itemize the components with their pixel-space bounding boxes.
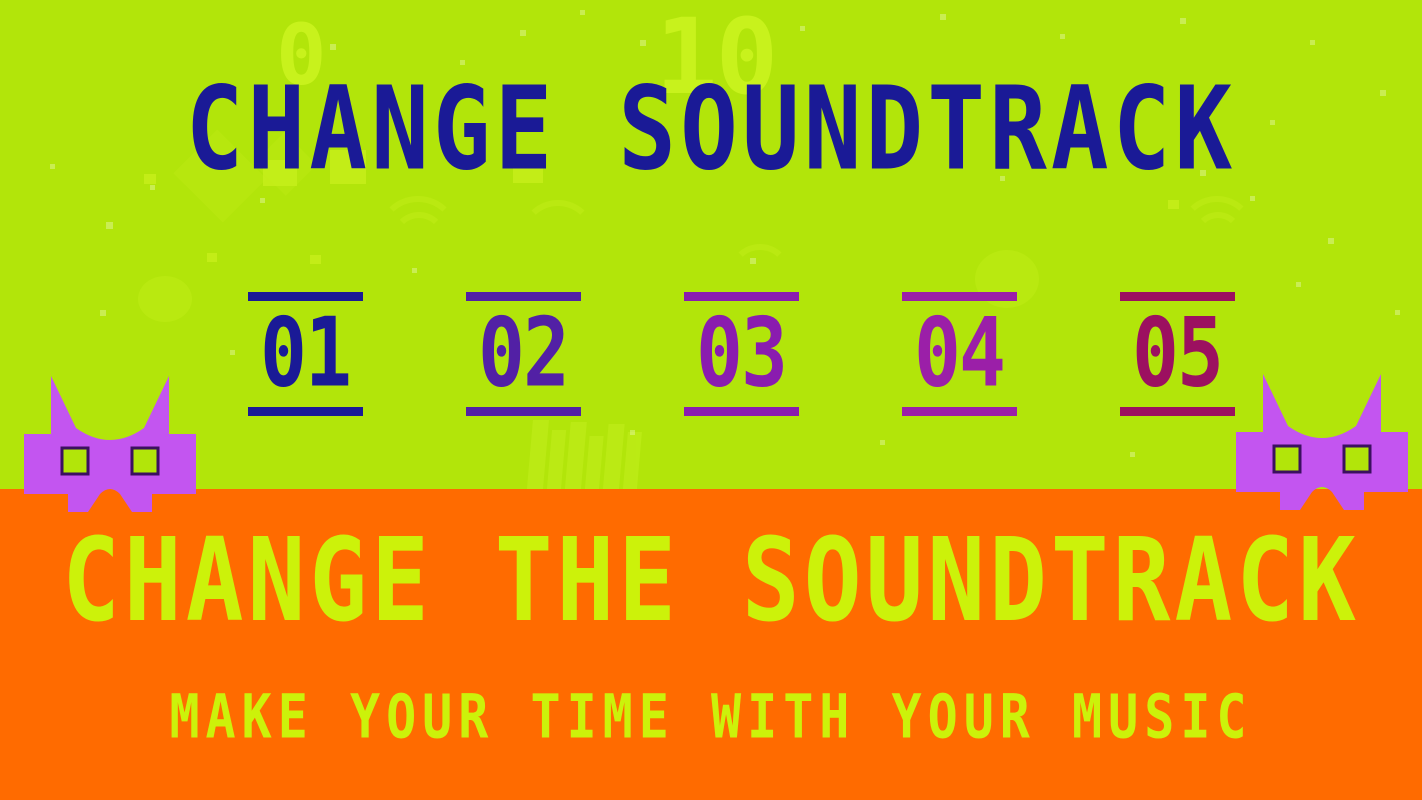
decor-square bbox=[207, 253, 217, 262]
decor-dot bbox=[412, 268, 417, 273]
decor-dot bbox=[100, 310, 106, 316]
decor-arc bbox=[392, 212, 446, 264]
step-label: 04 bbox=[914, 306, 1004, 401]
decor-dot bbox=[1250, 196, 1255, 201]
decor-dot bbox=[1328, 238, 1334, 244]
step-item-03[interactable]: 03 bbox=[681, 292, 801, 416]
decor-dot bbox=[106, 222, 113, 229]
cat-mask-eye-left bbox=[62, 448, 88, 474]
decor-dot bbox=[1310, 40, 1315, 45]
decor-dot bbox=[640, 40, 646, 46]
decor-city-silhouette bbox=[527, 418, 653, 489]
cat-mask-right bbox=[1236, 374, 1408, 510]
decor-dot bbox=[1130, 452, 1135, 457]
decor-blob bbox=[138, 276, 192, 322]
step-label: 01 bbox=[260, 306, 350, 401]
decor-dot bbox=[940, 14, 946, 20]
step-item-04[interactable]: 04 bbox=[899, 292, 1019, 416]
decor-dot bbox=[330, 44, 336, 50]
decor-dot bbox=[230, 350, 235, 355]
step-item-01[interactable]: 01 bbox=[245, 292, 365, 416]
decor-dot bbox=[750, 258, 756, 264]
banner-subtitle: MAKE YOUR TIME WITH YOUR MUSIC bbox=[0, 685, 1422, 748]
step-label: 02 bbox=[478, 306, 568, 401]
banner-headline: CHANGE THE SOUNDTRACK bbox=[0, 523, 1422, 638]
slide-canvas: 0 10 bbox=[0, 0, 1422, 800]
decor-dot bbox=[880, 440, 885, 445]
decor-dot bbox=[580, 10, 585, 15]
cat-mask-eye-left bbox=[1274, 446, 1300, 472]
cat-mask-left bbox=[24, 376, 196, 512]
decor-dot bbox=[1180, 18, 1186, 24]
step-label: 03 bbox=[696, 306, 786, 401]
step-item-02[interactable]: 02 bbox=[463, 292, 583, 416]
step-item-05[interactable]: 05 bbox=[1117, 292, 1237, 416]
cat-mask-eye-right bbox=[1344, 446, 1370, 472]
decor-dot bbox=[800, 26, 805, 31]
decor-arc bbox=[1194, 212, 1242, 258]
cat-mask-eye-right bbox=[132, 448, 158, 474]
decor-dot bbox=[260, 198, 265, 203]
decor-square bbox=[310, 255, 321, 264]
decor-dot bbox=[630, 430, 635, 435]
decor-arc bbox=[521, 200, 595, 270]
page-title: CHANGE SOUNDTRACK bbox=[0, 72, 1422, 189]
decor-square bbox=[1168, 200, 1179, 209]
decor-dot bbox=[1296, 282, 1301, 287]
footer-banner: CHANGE THE SOUNDTRACK MAKE YOUR TIME WIT… bbox=[0, 489, 1422, 800]
decor-dot bbox=[520, 30, 526, 36]
decor-dot bbox=[1395, 310, 1400, 315]
hero-panel: 0 10 bbox=[0, 0, 1422, 489]
step-label: 05 bbox=[1132, 306, 1222, 401]
decor-dot bbox=[1060, 34, 1065, 39]
step-number-row: 01 02 03 04 05 bbox=[245, 292, 1237, 416]
